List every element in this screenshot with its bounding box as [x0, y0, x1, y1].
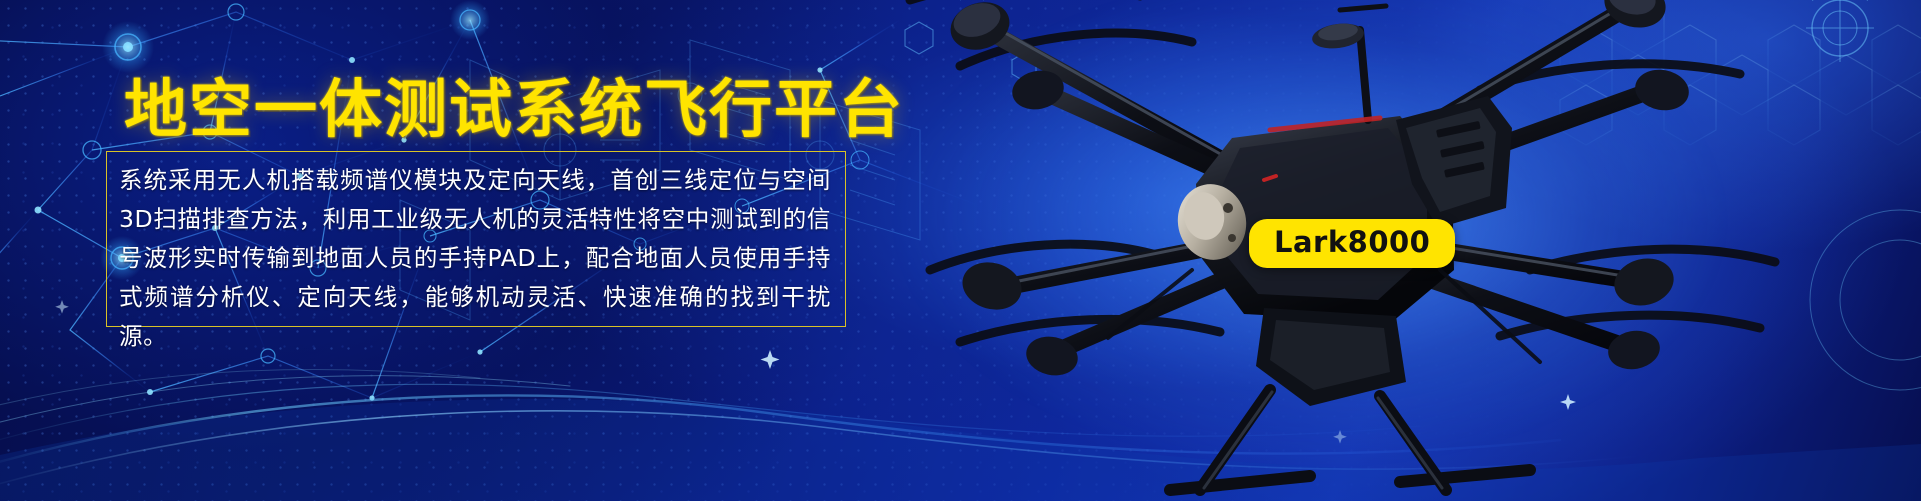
product-banner: 地空一体测试系统飞行平台 系统采用无人机搭载频谱仪模块及定向天线，首创三线定位与… [0, 0, 1921, 501]
bottom-wave-fill [0, 399, 1921, 501]
description-text: 系统采用无人机搭载频谱仪模块及定向天线，首创三线定位与空间3D扫描排查方法，利用… [119, 161, 831, 356]
page-title: 地空一体测试系统飞行平台 [124, 78, 904, 141]
product-model-badge: Lark8000 [1249, 219, 1455, 268]
description-box: 系统采用无人机搭载频谱仪模块及定向天线，首创三线定位与空间3D扫描排查方法，利用… [106, 151, 846, 327]
